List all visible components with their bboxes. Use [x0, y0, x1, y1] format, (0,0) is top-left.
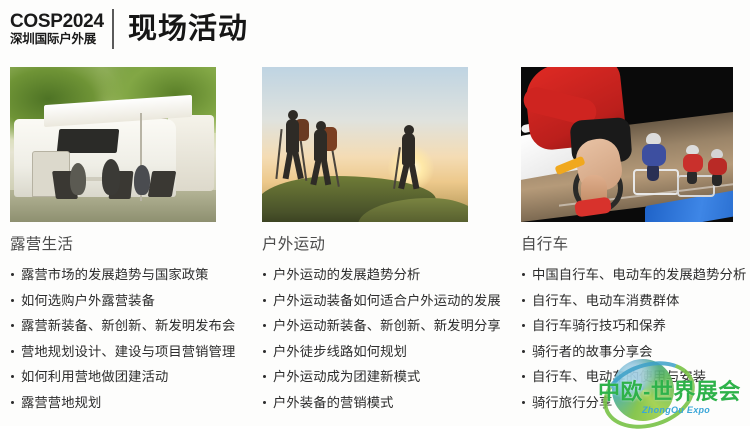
- camper-van-campsite-photo: [10, 67, 216, 222]
- foreground-cyclist-shoe: [574, 197, 612, 218]
- list-item: 露营市场的发展趋势与国家政策: [10, 262, 222, 288]
- background-cyclist: [679, 145, 707, 191]
- cyclist-torso: [708, 158, 727, 175]
- list-item: 自行车、电动车的使用与安装: [521, 364, 737, 390]
- column-heading-outdoor-sports: 户外运动: [262, 234, 474, 256]
- list-item: 自行车、电动车消费群体: [521, 288, 737, 314]
- event-logo: COSP2024 深圳国际户外展: [0, 11, 108, 47]
- column-bicycle: 自行车 中国自行车、电动车的发展趋势分析 自行车、电动车消费群体 自行车骑行技巧…: [521, 67, 737, 416]
- camper-person: [70, 163, 86, 195]
- list-item: 户外运动的发展趋势分析: [262, 262, 474, 288]
- list-item: 露营营地规划: [10, 390, 222, 416]
- cyclist-torso: [642, 144, 666, 166]
- list-item: 如何选购户外露营装备: [10, 288, 222, 314]
- column-heading-camping: 露营生活: [10, 234, 222, 256]
- track-cyclists-velodrome-photo: [521, 67, 733, 222]
- hiker-leg: [283, 151, 294, 180]
- cyclist-leg: [687, 170, 697, 184]
- list-item: 骑行者的故事分享会: [521, 339, 737, 365]
- list-item: 户外徒步线路如何规划: [262, 339, 474, 365]
- list-item: 营地规划设计、建设与项目营销管理: [10, 339, 222, 365]
- list-item: 户外装备的营销模式: [262, 390, 474, 416]
- content-columns: 露营生活 露营市场的发展趋势与国家政策 如何选购户外露营装备 露营新装备、新创新…: [0, 67, 750, 419]
- list-item: 户外运动新装备、新创新、新发明分享: [262, 313, 474, 339]
- hikers-sunset-photo: [262, 67, 468, 222]
- trekking-pole: [275, 129, 282, 179]
- helmet-icon: [646, 133, 661, 144]
- topic-list-camping: 露营市场的发展趋势与国家政策 如何选购户外露营装备 露营新装备、新创新、新发明发…: [10, 262, 222, 416]
- list-item: 露营新装备、新创新、新发明发布会: [10, 313, 222, 339]
- hiker-silhouette: [286, 119, 299, 153]
- list-item: 自行车骑行技巧和保养: [521, 313, 737, 339]
- slide-header: COSP2024 深圳国际户外展 现场活动: [0, 0, 750, 58]
- column-outdoor-sports: 户外运动 户外运动的发展趋势分析 户外运动装备如何适合户外运动的发展 户外运动新…: [262, 67, 474, 416]
- hiker-head: [316, 121, 326, 131]
- list-item: 如何利用营地做团建活动: [10, 364, 222, 390]
- helmet-icon: [686, 145, 699, 154]
- event-logo-sub: 深圳国际户外展: [10, 32, 108, 47]
- event-logo-main: COSP2024: [10, 11, 108, 32]
- list-item: 户外运动装备如何适合户外运动的发展: [262, 288, 474, 314]
- background-cyclist: [637, 133, 671, 191]
- hiker-silhouette: [314, 129, 327, 161]
- camp-chair: [148, 171, 177, 197]
- camper-person: [102, 159, 120, 195]
- hiker-head: [404, 125, 414, 135]
- header-divider: [112, 9, 114, 49]
- topic-list-bicycle: 中国自行车、电动车的发展趋势分析 自行车、电动车消费群体 自行车骑行技巧和保养 …: [521, 262, 737, 416]
- camper-person: [134, 165, 150, 195]
- helmet-icon: [711, 149, 723, 158]
- list-item: 户外运动成为团建新模式: [262, 364, 474, 390]
- page-title: 现场活动: [128, 12, 248, 46]
- cyclist-torso: [683, 154, 703, 172]
- topic-list-outdoor-sports: 户外运动的发展趋势分析 户外运动装备如何适合户外运动的发展 户外运动新装备、新创…: [262, 262, 474, 416]
- column-heading-bicycle: 自行车: [521, 234, 737, 256]
- column-camping: 露营生活 露营市场的发展趋势与国家政策 如何选购户外露营装备 露营新装备、新创新…: [10, 67, 222, 416]
- list-item: 骑行旅行分享: [521, 390, 737, 416]
- background-cyclist: [705, 149, 731, 191]
- hiker-silhouette: [402, 133, 415, 165]
- list-item: 中国自行车、电动车的发展趋势分析: [521, 262, 737, 288]
- hiker-head: [288, 110, 298, 120]
- camper-van-window: [57, 129, 120, 153]
